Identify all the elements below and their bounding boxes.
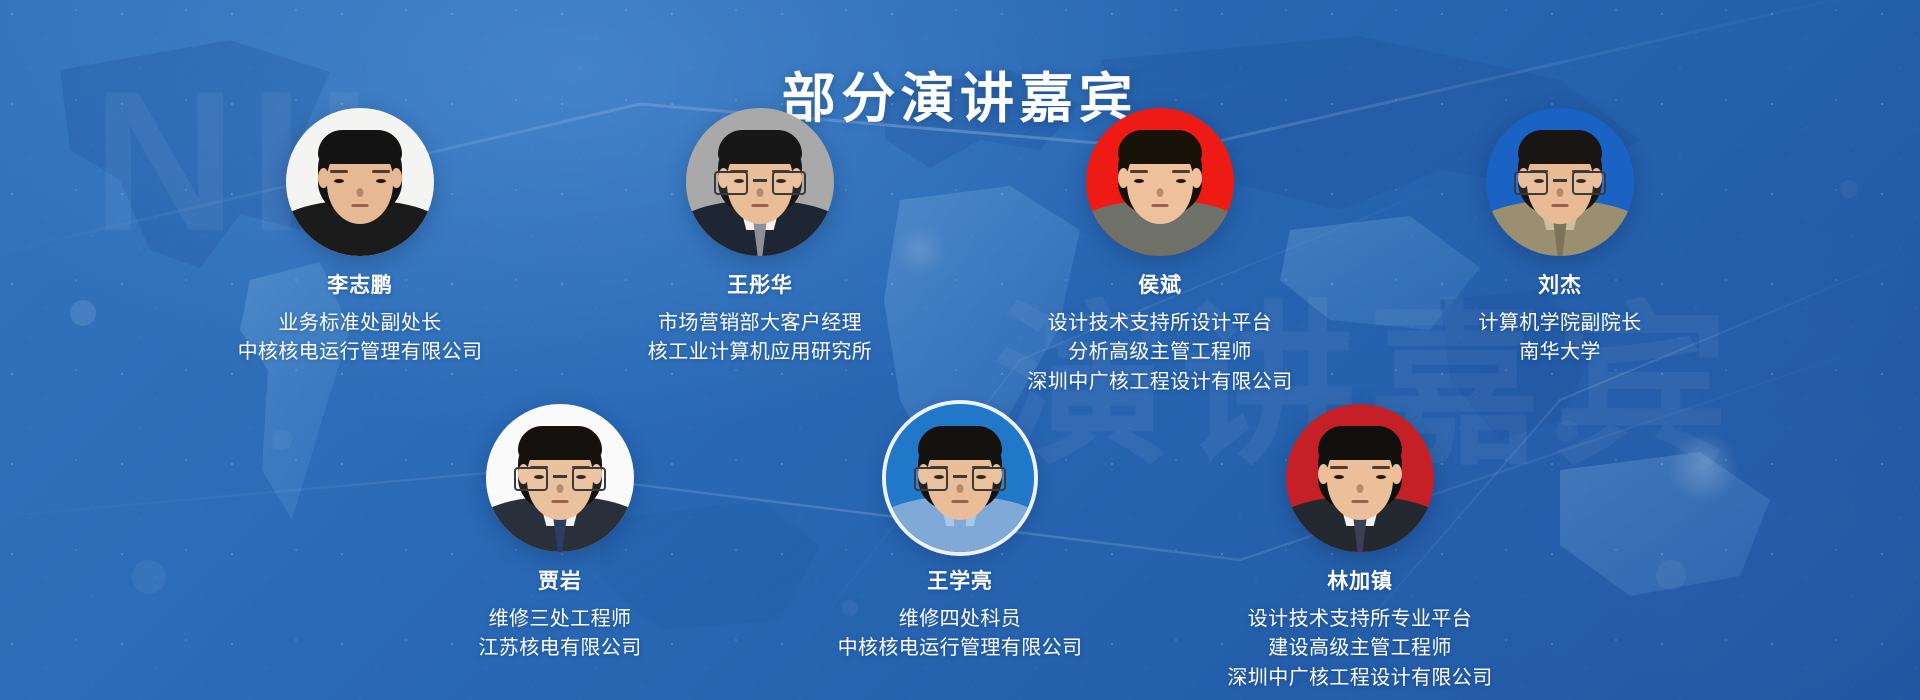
speaker-details: 业务标准处副处长中核核电运行管理有限公司 — [238, 309, 483, 367]
avatar-eye-right — [1176, 179, 1186, 183]
speaker-details: 维修三处工程师江苏核电有限公司 — [478, 605, 641, 663]
avatar-eye-left — [334, 179, 344, 183]
speaker-card[interactable]: 王彤华 市场营销部大客户经理核工业计算机应用研究所 — [626, 108, 894, 397]
avatar-brow-right — [372, 170, 390, 173]
speaker-detail-line: 深圳中广核工程设计有限公司 — [1027, 368, 1292, 397]
avatar-nose — [1357, 484, 1364, 493]
speaker-detail-line: 江苏核电有限公司 — [478, 634, 641, 663]
avatar-eye-right — [376, 179, 386, 183]
speaker-name: 侯斌 — [1138, 273, 1182, 299]
avatar-photo — [1486, 108, 1634, 256]
avatar-glasses-left — [714, 171, 748, 195]
avatar-hair-top — [518, 426, 602, 460]
speaker-detail-line: 设计技术支持所专业平台 — [1227, 605, 1492, 634]
avatar-brow-left — [330, 170, 348, 173]
speaker-card[interactable]: 李志鹏 业务标准处副处长中核核电运行管理有限公司 — [226, 108, 494, 397]
avatar-glasses-bridge — [1553, 179, 1567, 182]
speaker-detail-line: 中核核电运行管理有限公司 — [238, 338, 483, 367]
speaker-name: 刘杰 — [1538, 273, 1582, 299]
avatar-nose — [1557, 188, 1564, 197]
avatar-mouth — [1152, 204, 1169, 207]
speaker-card[interactable]: 贾岩 维修三处工程师江苏核电有限公司 — [426, 404, 694, 693]
speaker-name: 王彤华 — [727, 273, 793, 299]
avatar-eye-right — [1376, 475, 1386, 479]
speaker-detail-line: 市场营销部大客户经理 — [648, 309, 872, 338]
speaker-detail-line: 南华大学 — [1478, 338, 1641, 367]
speaker-name: 王学亮 — [927, 569, 993, 595]
avatar-nose — [1157, 188, 1164, 197]
avatar-nose — [357, 188, 364, 197]
speaker-details: 设计技术支持所专业平台建设高级主管工程师深圳中广核工程设计有限公司 — [1227, 605, 1492, 693]
avatar-ear-left — [1118, 168, 1129, 188]
speaker-detail-line: 核工业计算机应用研究所 — [648, 338, 872, 367]
speaker-details: 设计技术支持所设计平台分析高级主管工程师深圳中广核工程设计有限公司 — [1027, 309, 1292, 397]
avatar-brow-left — [1330, 466, 1348, 469]
avatar-hair-top — [718, 130, 802, 164]
speaker-name: 贾岩 — [538, 569, 582, 595]
avatar-photo — [1086, 108, 1234, 256]
avatar-glasses-right — [972, 467, 1006, 491]
avatar-photo — [686, 108, 834, 256]
avatar-glasses-bridge — [553, 475, 567, 478]
avatar-hair-top — [318, 130, 402, 164]
avatar-mouth — [1352, 500, 1369, 503]
avatar-hair-top — [1518, 130, 1602, 164]
speaker-name: 林加镇 — [1327, 569, 1393, 595]
speaker-card[interactable]: 王学亮 维修四处科员中核核电运行管理有限公司 — [826, 404, 1094, 693]
avatar-photo — [1286, 404, 1434, 552]
speaker-card[interactable]: 刘杰 计算机学院副院长南华大学 — [1426, 108, 1694, 397]
speaker-avatar[interactable] — [1286, 404, 1434, 552]
avatar-photo — [286, 108, 434, 256]
poster-canvas: NII 演讲嘉宾 部分演讲嘉宾 李志鹏 业务标准处副处长中核核电运行管理有限公司 — [0, 0, 1920, 700]
speaker-avatar[interactable] — [886, 404, 1034, 552]
avatar-hair-top — [1118, 130, 1202, 164]
avatar-glasses-bridge — [953, 475, 967, 478]
speaker-row-1: 李志鹏 业务标准处副处长中核核电运行管理有限公司 王彤华 市场营销部大客户经理 — [0, 108, 1920, 397]
avatar-eye-left — [1334, 475, 1344, 479]
speaker-detail-line: 建设高级主管工程师 — [1227, 634, 1492, 663]
avatar-glasses-right — [772, 171, 806, 195]
avatar-brow-right — [1172, 170, 1190, 173]
speaker-avatar[interactable] — [1086, 108, 1234, 256]
avatar-mouth — [352, 204, 369, 207]
speaker-avatar[interactable] — [686, 108, 834, 256]
speaker-detail-line: 中核核电运行管理有限公司 — [838, 634, 1083, 663]
speaker-detail-line: 分析高级主管工程师 — [1027, 338, 1292, 367]
avatar-glasses-bridge — [753, 179, 767, 182]
speaker-name: 李志鹏 — [327, 273, 393, 299]
avatar-glasses-left — [914, 467, 948, 491]
speaker-detail-line: 维修四处科员 — [838, 605, 1083, 634]
speaker-detail-line: 计算机学院副院长 — [1478, 309, 1641, 338]
avatar-ear-right — [1391, 464, 1402, 484]
speaker-avatar[interactable] — [286, 108, 434, 256]
avatar-ear-right — [1191, 168, 1202, 188]
speaker-avatar[interactable] — [486, 404, 634, 552]
avatar-mouth — [1552, 204, 1569, 207]
speaker-row-2: 贾岩 维修三处工程师江苏核电有限公司 王学亮 维修四处科员中核核电运行管理有限 — [0, 404, 1920, 693]
avatar-glasses-left — [1514, 171, 1548, 195]
speaker-detail-line: 业务标准处副处长 — [238, 309, 483, 338]
avatar-mouth — [552, 500, 569, 503]
avatar-nose — [557, 484, 564, 493]
avatar-nose — [757, 188, 764, 197]
avatar-eye-left — [1134, 179, 1144, 183]
avatar-glasses-right — [572, 467, 606, 491]
speaker-details: 市场营销部大客户经理核工业计算机应用研究所 — [648, 309, 872, 367]
speaker-details: 维修四处科员中核核电运行管理有限公司 — [838, 605, 1083, 663]
avatar-mouth — [952, 500, 969, 503]
speaker-card[interactable]: 侯斌 设计技术支持所设计平台分析高级主管工程师深圳中广核工程设计有限公司 — [1026, 108, 1294, 397]
avatar-nose — [957, 484, 964, 493]
avatar-hair-top — [1318, 426, 1402, 460]
avatar-mouth — [752, 204, 769, 207]
speaker-details: 计算机学院副院长南华大学 — [1478, 309, 1641, 367]
speaker-detail-line: 深圳中广核工程设计有限公司 — [1227, 664, 1492, 693]
avatar-brow-right — [1372, 466, 1390, 469]
avatar-photo — [486, 404, 634, 552]
avatar-brow-left — [1130, 170, 1148, 173]
speaker-detail-line: 维修三处工程师 — [478, 605, 641, 634]
avatar-glasses-right — [1572, 171, 1606, 195]
avatar-ear-right — [391, 168, 402, 188]
avatar-ear-left — [1318, 464, 1329, 484]
avatar-photo — [886, 404, 1034, 552]
avatar-ear-left — [318, 168, 329, 188]
speaker-avatar[interactable] — [1486, 108, 1634, 256]
avatar-glasses-left — [514, 467, 548, 491]
avatar-hair-top — [918, 426, 1002, 460]
speaker-card[interactable]: 林加镇 设计技术支持所专业平台建设高级主管工程师深圳中广核工程设计有限公司 — [1226, 404, 1494, 693]
speaker-detail-line: 设计技术支持所设计平台 — [1027, 309, 1292, 338]
